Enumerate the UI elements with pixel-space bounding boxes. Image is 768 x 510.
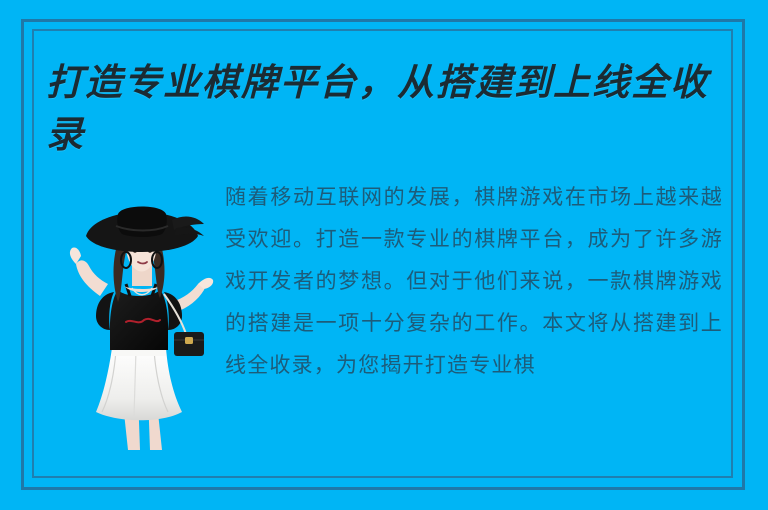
skirt [96, 346, 182, 420]
page-title: 打造专业棋牌平台，从搭建到上线全收录 [46, 56, 726, 160]
poster-canvas: 打造专业棋牌平台，从搭建到上线全收录 随着移动互联网的发展，棋牌游戏在市场上越来… [0, 0, 768, 510]
hat [86, 207, 204, 253]
character-illustration [56, 198, 218, 456]
body-paragraph: 随着移动互联网的发展，棋牌游戏在市场上越来越受欢迎。打造一款专业的棋牌平台，成为… [225, 176, 723, 386]
arm-left [70, 247, 108, 296]
